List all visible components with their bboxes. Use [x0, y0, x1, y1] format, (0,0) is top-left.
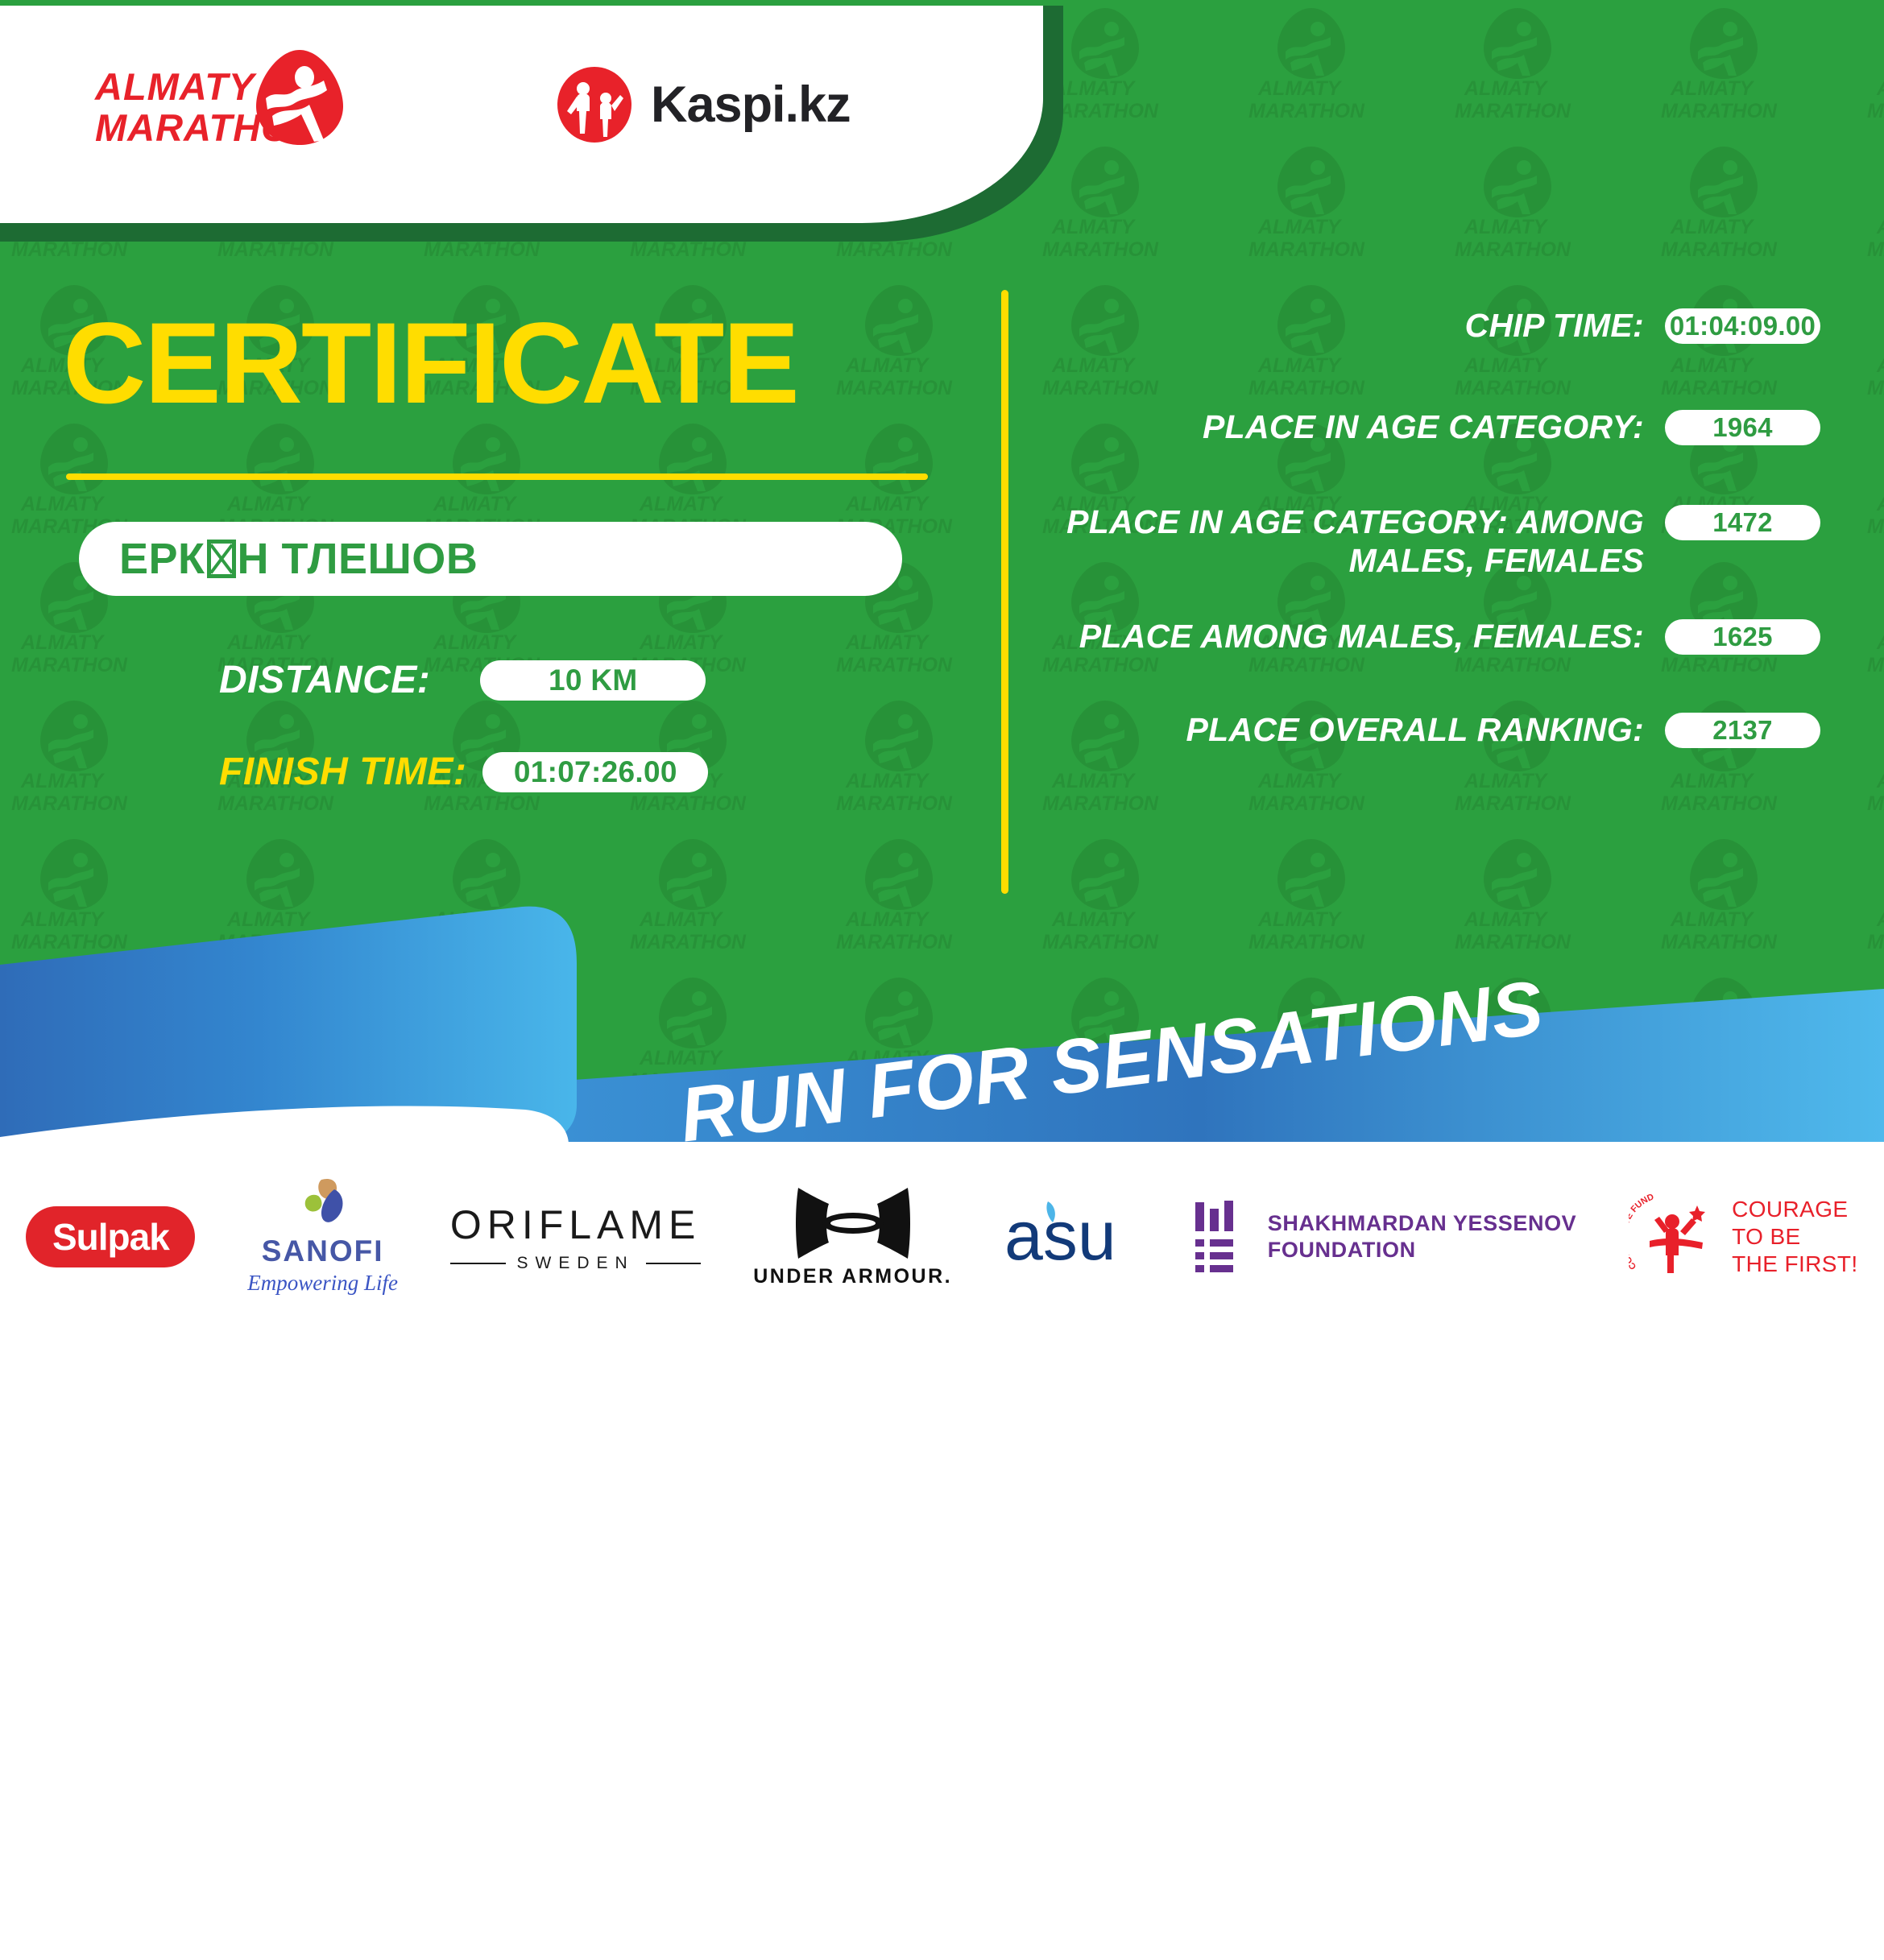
stat-row-chip-time: CHIP TIME: 01:04:09.00 [1047, 306, 1820, 356]
stat-value: 1964 [1665, 410, 1820, 445]
yessenov-line1: SHAKHMARDAN YESSENOV [1268, 1210, 1577, 1237]
sponsor-sanofi: SANOFI Empowering Life [247, 1178, 398, 1296]
sponsor-under-armour: UNDER ARMOUR. [753, 1186, 952, 1288]
stat-label: PLACE OVERALL RANKING: [1047, 710, 1665, 749]
oriflame-rule-left [450, 1263, 506, 1264]
kaspi-logo: Kaspi.kz [556, 64, 851, 145]
courage-line2: TO BE [1732, 1223, 1857, 1251]
sponsor-sulpak: Sulpak [26, 1206, 195, 1267]
courage-line3: THE FIRST! [1732, 1251, 1857, 1278]
almaty-marathon-logo: ALMATY MARATHON [95, 48, 361, 157]
stat-label: PLACE IN AGE CATEGORY: AMONG MALES, FEMA… [1047, 502, 1665, 580]
oriflame-rule-right [646, 1263, 702, 1264]
distance-label: DISTANCE: [219, 658, 430, 702]
almaty-marathon-runner-icon [255, 48, 345, 147]
asu-logo-icon: asu [1004, 1197, 1141, 1277]
yessenov-mark-icon [1194, 1201, 1248, 1273]
stat-value: 2137 [1665, 713, 1820, 748]
runner-name-prefix: ЕРК [119, 534, 205, 584]
stat-row-place-overall: PLACE OVERALL RANKING: 2137 [1047, 710, 1820, 760]
sponsor-yessenov-foundation: SHAKHMARDAN YESSENOV FOUNDATION [1194, 1201, 1577, 1273]
under-armour-mark-icon [793, 1186, 913, 1260]
finish-time-label: FINISH TIME: [219, 750, 466, 794]
courage-runner-icon: CORPORATE FUND [1629, 1193, 1719, 1281]
stat-value: 01:04:09.00 [1665, 308, 1820, 344]
sanofi-mark-icon [294, 1178, 352, 1231]
distance-row: DISTANCE: 10 KM [219, 658, 706, 702]
yessenov-wordmark: SHAKHMARDAN YESSENOV FOUNDATION [1268, 1210, 1577, 1263]
stat-label: PLACE IN AGE CATEGORY: [1047, 407, 1665, 446]
stats-list: CHIP TIME: 01:04:09.00 PLACE IN AGE CATE… [1047, 306, 1820, 788]
sponsor-courage-to-be-first: CORPORATE FUND COURAGE TO BE THE FIRST! [1629, 1193, 1857, 1281]
sponsor-oriflame: ORIFLAME SWEDEN [450, 1201, 702, 1273]
title-underline [66, 473, 928, 480]
under-armour-wordmark: UNDER ARMOUR. [753, 1265, 952, 1288]
sanofi-wordmark: SANOFI [262, 1234, 384, 1268]
stat-value: 1472 [1665, 505, 1820, 540]
sponsor-bar: Sulpak SANOFI Empowering Life ORIFLAME S… [0, 1142, 1884, 1332]
distance-value: 10 KM [480, 660, 706, 701]
stat-label: PLACE AMONG MALES, FEMALES: [1047, 617, 1665, 655]
stat-label: CHIP TIME: [1047, 306, 1665, 345]
certificate-canvas: ALMATY MARATHON ALMATY MARATHON [0, 0, 1884, 1332]
vertical-divider [1001, 290, 1008, 894]
kaspi-people-icon [556, 66, 633, 143]
svg-text:asu: asu [1004, 1197, 1116, 1275]
kaspi-wordmark: Kaspi.kz [651, 76, 851, 134]
oriflame-tagline: SWEDEN [517, 1254, 635, 1273]
oriflame-sub: SWEDEN [450, 1254, 702, 1273]
certificate-title: CERTIFICATE [63, 306, 798, 421]
stat-row-place-age-category: PLACE IN AGE CATEGORY: 1964 [1047, 407, 1820, 457]
event-day-suffix: st [427, 1792, 476, 1851]
top-green-strip [0, 0, 1884, 6]
courage-arc-text: CORPORATE FUND [1629, 1193, 1655, 1272]
svg-text:CORPORATE FUND: CORPORATE FUND [1629, 1193, 1655, 1272]
event-month: APRIL [100, 1846, 292, 1946]
event-day: 21 [290, 1793, 438, 1916]
finish-time-row: FINISH TIME: 01:07:26.00 [219, 750, 708, 794]
sulpak-logo: Sulpak [26, 1206, 195, 1267]
yessenov-line2: FOUNDATION [1268, 1237, 1577, 1263]
missing-glyph-box-icon [207, 540, 236, 578]
sanofi-tagline: Empowering Life [247, 1271, 398, 1296]
runner-name-suffix: Н ТЛЕШОВ [238, 534, 478, 584]
courage-wordmark: COURAGE TO BE THE FIRST! [1732, 1196, 1857, 1278]
courage-line1: COURAGE [1732, 1196, 1857, 1223]
runner-name-field: ЕРК Н ТЛЕШОВ [79, 522, 902, 596]
oriflame-wordmark: ORIFLAME [450, 1201, 702, 1248]
stat-row-place-among-gender: PLACE AMONG MALES, FEMALES: 1625 [1047, 617, 1820, 667]
finish-time-value: 01:07:26.00 [482, 752, 708, 792]
event-date: APRIL 21 st [95, 1787, 482, 1946]
stat-value: 1625 [1665, 619, 1820, 655]
stat-row-place-age-category-gender: PLACE IN AGE CATEGORY: AMONG MALES, FEMA… [1047, 502, 1820, 580]
sponsor-asu: asu [1004, 1197, 1141, 1277]
runner-name-text: ЕРК Н ТЛЕШОВ [119, 534, 478, 584]
